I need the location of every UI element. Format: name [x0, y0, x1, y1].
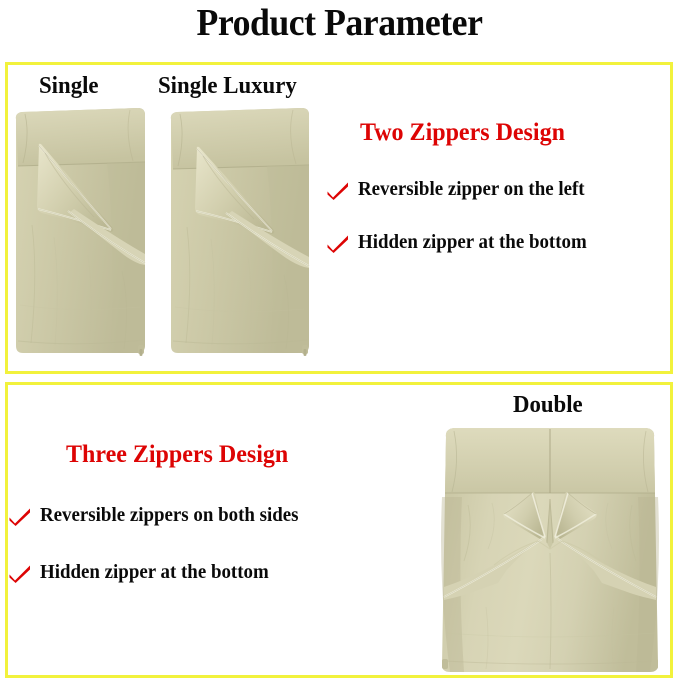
sleeping-bag-liner-single-luxury-icon — [166, 105, 312, 357]
feature-item: Hidden zipper at the bottom — [8, 562, 408, 584]
feature-item: Reversible zipper on the left — [326, 179, 670, 201]
features-two-zippers: Two Zippers Design Reversible zipper on … — [326, 118, 670, 254]
feature-item: Reversible zippers on both sides — [8, 505, 408, 527]
sleeping-bag-liner-single-icon — [12, 105, 148, 357]
features-three-zippers: Three Zippers Design Reversible zippers … — [8, 440, 408, 584]
feature-heading-two-zippers: Two Zippers Design — [360, 118, 658, 148]
feature-item: Hidden zipper at the bottom — [326, 232, 670, 254]
check-icon — [326, 234, 350, 254]
feature-text: Reversible zippers on both sides — [40, 505, 299, 527]
feature-text: Hidden zipper at the bottom — [358, 232, 587, 254]
feature-text: Hidden zipper at the bottom — [40, 562, 269, 584]
check-icon — [326, 181, 350, 201]
product-label-single: Single — [39, 73, 99, 99]
feature-text: Reversible zipper on the left — [358, 179, 585, 201]
product-label-double: Double — [513, 392, 583, 418]
check-icon — [8, 564, 32, 584]
check-icon — [8, 507, 32, 527]
feature-list-three-zippers: Reversible zippers on both sides Hidden … — [8, 505, 408, 584]
product-label-single-luxury: Single Luxury — [158, 73, 297, 99]
feature-list-two-zippers: Reversible zipper on the left Hidden zip… — [326, 179, 670, 254]
sleeping-bag-liner-double-icon — [428, 421, 672, 675]
page-title: Product Parameter — [20, 2, 658, 44]
feature-heading-three-zippers: Three Zippers Design — [66, 440, 394, 470]
